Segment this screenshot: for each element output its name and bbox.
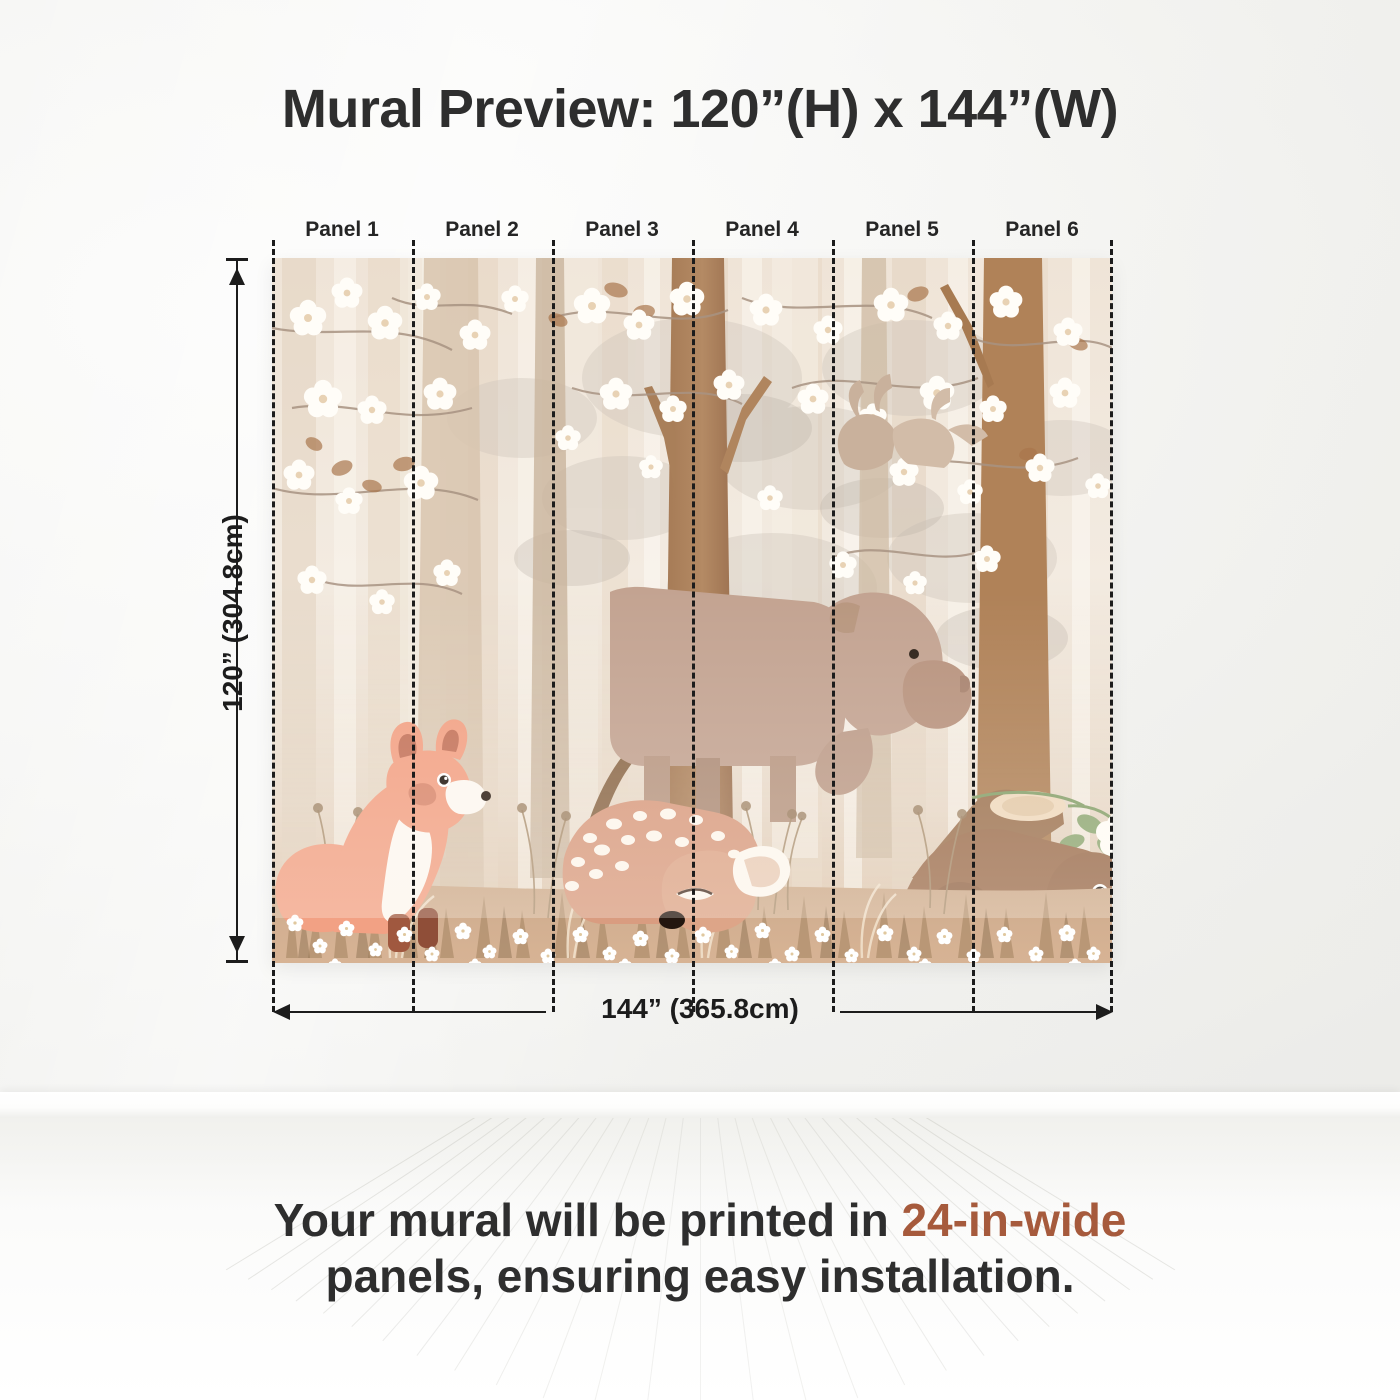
panel-divider-right-edge <box>1110 240 1113 1012</box>
height-tick-top <box>226 258 248 261</box>
panel-label-4: Panel 4 <box>692 218 832 242</box>
panel-label-2: Panel 2 <box>412 218 552 242</box>
height-tick-bottom <box>226 960 248 963</box>
width-dimension-label: 144” (365.8cm) <box>0 993 1400 1025</box>
footer-caption: Your mural will be printed in 24-in-wide… <box>0 1192 1400 1304</box>
panel-divider-4 <box>832 240 835 1012</box>
panel-divider-2 <box>552 240 555 1012</box>
panel-divider-left-edge <box>272 240 275 1012</box>
baseboard <box>0 1092 1400 1118</box>
mural-preview-page: Mural Preview: 120”(H) x 144”(W) Panel 1… <box>0 0 1400 1400</box>
panel-label-5: Panel 5 <box>832 218 972 242</box>
panel-divider-5 <box>972 240 975 1012</box>
page-title: Mural Preview: 120”(H) x 144”(W) <box>0 78 1400 140</box>
caption-line2: panels, ensuring easy installation. <box>325 1250 1074 1302</box>
height-arrow-down <box>229 936 245 953</box>
panel-label-6: Panel 6 <box>972 218 1112 242</box>
height-arrow-up <box>229 268 245 285</box>
caption-line1-before: Your mural will be printed in <box>274 1194 902 1246</box>
height-dimension-label: 120” (304.8cm) <box>217 498 249 728</box>
panel-divider-3 <box>692 240 695 1012</box>
panel-label-3: Panel 3 <box>552 218 692 242</box>
caption-accent: 24-in-wide <box>901 1194 1126 1246</box>
panel-label-1: Panel 1 <box>272 218 412 242</box>
panel-divider-1 <box>412 240 415 1012</box>
